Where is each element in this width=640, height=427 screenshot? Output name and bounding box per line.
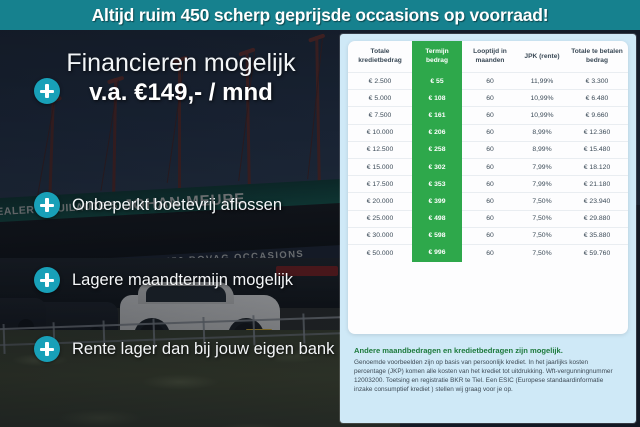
table-row: € 7.500 € 161 60 10,99% € 9.660: [348, 107, 628, 124]
headline-line-1: Financieren mogelijk: [26, 48, 336, 78]
cell-totaal: € 23.940: [566, 193, 628, 210]
col-header-termijn-bedrag: Termijn bedrag: [412, 41, 462, 73]
cell-looptijd: 60: [462, 73, 518, 90]
cell-kredietbedrag: € 15.000: [348, 158, 412, 175]
col-header-totale-te-betalen: Totale te betalen bedrag: [566, 41, 628, 73]
cell-looptijd: 60: [462, 176, 518, 193]
cell-kredietbedrag: € 2.500: [348, 73, 412, 90]
cell-totaal: € 3.300: [566, 73, 628, 90]
cell-termijnbedrag: € 161: [412, 107, 462, 124]
cell-jpk: 8,99%: [518, 124, 566, 141]
cell-kredietbedrag: € 50.000: [348, 244, 412, 262]
cell-termijnbedrag: € 108: [412, 90, 462, 107]
cell-looptijd: 60: [462, 107, 518, 124]
col-header-looptijd: Looptijd in maanden: [462, 41, 518, 73]
headline: Financieren mogelijk v.a. €149,- / mnd: [26, 48, 336, 108]
cell-looptijd: 60: [462, 244, 518, 262]
table-row: € 2.500 € 55 60 11,99% € 3.300: [348, 73, 628, 90]
plus-icon: [34, 192, 60, 218]
plus-icon: [34, 336, 60, 362]
disclaimer-body: Genoemde voorbeelden zijn op basis van p…: [354, 358, 620, 394]
bullet-label: Lagere maandtermijn mogelijk: [72, 271, 293, 290]
cell-termijnbedrag: € 399: [412, 193, 462, 210]
cell-looptijd: 60: [462, 227, 518, 244]
cell-kredietbedrag: € 25.000: [348, 210, 412, 227]
headline-line-2: v.a. €149,- / mnd: [26, 78, 336, 108]
cell-kredietbedrag: € 10.000: [348, 124, 412, 141]
cell-jpk: 7,99%: [518, 158, 566, 175]
table-row: € 20.000 € 399 60 7,50% € 23.940: [348, 193, 628, 210]
cell-kredietbedrag: € 17.500: [348, 176, 412, 193]
bullet-item-2: Lagere maandtermijn mogelijk: [34, 267, 293, 293]
cell-looptijd: 60: [462, 124, 518, 141]
table-body: € 2.500 € 55 60 11,99% € 3.300 € 5.000 €…: [348, 73, 628, 263]
bullet-label: Rente lager dan bij jouw eigen bank: [72, 340, 334, 359]
cell-jpk: 8,99%: [518, 141, 566, 158]
cell-looptijd: 60: [462, 193, 518, 210]
cell-termijnbedrag: € 206: [412, 124, 462, 141]
cell-jpk: 11,99%: [518, 73, 566, 90]
bullet-item-1: Onbeperkt boetevrij aflossen: [34, 192, 282, 218]
cell-jpk: 7,50%: [518, 227, 566, 244]
cell-termijnbedrag: € 258: [412, 141, 462, 158]
cell-totaal: € 21.180: [566, 176, 628, 193]
cell-jpk: 10,99%: [518, 107, 566, 124]
table-row: € 30.000 € 598 60 7,50% € 35.880: [348, 227, 628, 244]
cell-jpk: 7,50%: [518, 193, 566, 210]
cell-jpk: 10,99%: [518, 90, 566, 107]
table-row: € 12.500 € 258 60 8,99% € 15.480: [348, 141, 628, 158]
table-row: € 17.500 € 353 60 7,99% € 21.180: [348, 176, 628, 193]
cell-kredietbedrag: € 12.500: [348, 141, 412, 158]
cell-looptijd: 60: [462, 210, 518, 227]
cell-termijnbedrag: € 353: [412, 176, 462, 193]
cell-kredietbedrag: € 7.500: [348, 107, 412, 124]
cell-totaal: € 6.480: [566, 90, 628, 107]
cell-kredietbedrag: € 5.000: [348, 90, 412, 107]
cell-looptijd: 60: [462, 90, 518, 107]
cell-termijnbedrag: € 302: [412, 158, 462, 175]
bullet-label: Onbeperkt boetevrij aflossen: [72, 196, 282, 215]
cell-jpk: 7,99%: [518, 176, 566, 193]
plus-icon: [34, 267, 60, 293]
table-row: € 10.000 € 206 60 8,99% € 12.360: [348, 124, 628, 141]
cell-totaal: € 12.360: [566, 124, 628, 141]
table-row: € 50.000 € 996 60 7,50% € 59.760: [348, 244, 628, 262]
top-banner: Altijd ruim 450 scherp geprijsde occasio…: [0, 0, 640, 30]
cell-termijnbedrag: € 598: [412, 227, 462, 244]
table-row: € 25.000 € 498 60 7,50% € 29.880: [348, 210, 628, 227]
rate-table-card: Totale kredietbedrag Termijn bedrag Loop…: [348, 41, 628, 334]
cell-kredietbedrag: € 30.000: [348, 227, 412, 244]
cell-totaal: € 59.760: [566, 244, 628, 262]
cell-termijnbedrag: € 996: [412, 244, 462, 262]
top-banner-text: Altijd ruim 450 scherp geprijsde occasio…: [92, 5, 549, 26]
table-header-row: Totale kredietbedrag Termijn bedrag Loop…: [348, 41, 628, 73]
cell-looptijd: 60: [462, 158, 518, 175]
cell-totaal: € 9.660: [566, 107, 628, 124]
disclaimer-title: Andere maandbedragen en kredietbedragen …: [354, 346, 622, 355]
cell-totaal: € 29.880: [566, 210, 628, 227]
bullet-item-3: Rente lager dan bij jouw eigen bank: [34, 336, 334, 362]
left-content: Financieren mogelijk v.a. €149,- / mnd O…: [0, 30, 345, 427]
cell-totaal: € 18.120: [566, 158, 628, 175]
cell-jpk: 7,50%: [518, 244, 566, 262]
cell-totaal: € 35.880: [566, 227, 628, 244]
cell-termijnbedrag: € 498: [412, 210, 462, 227]
cell-termijnbedrag: € 55: [412, 73, 462, 90]
col-header-totale-kredietbedrag: Totale kredietbedrag: [348, 41, 412, 73]
cell-looptijd: 60: [462, 141, 518, 158]
financing-table: Totale kredietbedrag Termijn bedrag Loop…: [348, 41, 628, 262]
financing-info-panel: Totale kredietbedrag Termijn bedrag Loop…: [340, 34, 636, 423]
table-row: € 15.000 € 302 60 7,99% € 18.120: [348, 158, 628, 175]
cell-kredietbedrag: € 20.000: [348, 193, 412, 210]
col-header-jpk: JPK (rente): [518, 41, 566, 73]
promo-banner-image: DEALER INRUILAUTO'S JOHAN MEURE ALTIJD 4…: [0, 0, 640, 427]
table-row: € 5.000 € 108 60 10,99% € 6.480: [348, 90, 628, 107]
cell-jpk: 7,50%: [518, 210, 566, 227]
cell-totaal: € 15.480: [566, 141, 628, 158]
